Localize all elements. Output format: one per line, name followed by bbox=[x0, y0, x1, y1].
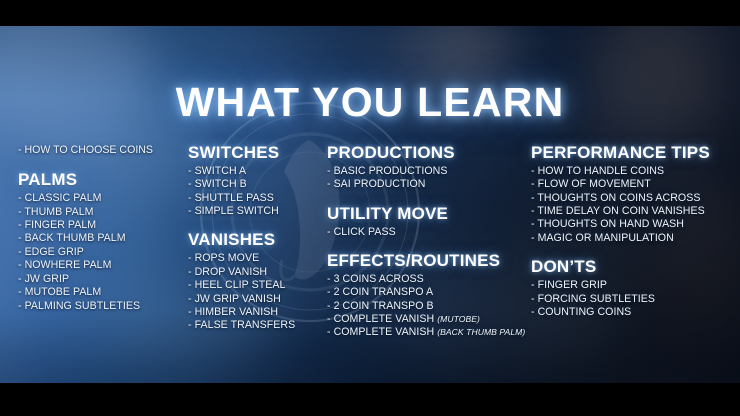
list-item: - COUNTING COINS bbox=[531, 306, 736, 319]
list-item-label: - NOWHERE PALM bbox=[18, 259, 112, 271]
list-item-label: - HIMBER VANISH bbox=[188, 306, 278, 318]
list-item: - COMPLETE VANISH (BACK THUMB PALM) bbox=[327, 326, 532, 339]
list-item: - THOUGHTS ON HAND WASH bbox=[531, 218, 736, 231]
learn-group: SWITCHES- SWITCH A- SWITCH B- SHUTTLE PA… bbox=[188, 144, 328, 218]
learn-column-4: PERFORMANCE TIPS- HOW TO HANDLE COINS- F… bbox=[531, 144, 736, 319]
learn-group: EFFECTS/ROUTINES- 3 COINS ACROSS- 2 COIN… bbox=[327, 252, 532, 340]
list-item: - 2 COIN TRANSPO B bbox=[327, 300, 532, 313]
list-item: - HOW TO CHOOSE COINS bbox=[18, 144, 186, 157]
list-item-label: - FORCING SUBTLETIES bbox=[531, 293, 655, 305]
list-item: - SHUTTLE PASS bbox=[188, 192, 328, 205]
page-title: WHAT YOU LEARN bbox=[0, 82, 740, 123]
group-heading: DON’TS bbox=[531, 258, 736, 276]
list-item-label: - THUMB PALM bbox=[18, 206, 94, 218]
list-item-label: - THOUGHTS ON COINS ACROSS bbox=[531, 192, 700, 204]
list-item-label: - FALSE TRANSFERS bbox=[188, 319, 295, 331]
list-item: - TIME DELAY ON COIN VANISHES bbox=[531, 205, 736, 218]
list-item: - FALSE TRANSFERS bbox=[188, 319, 328, 332]
list-item: - FINGER PALM bbox=[18, 219, 186, 232]
list-item: - BASIC PRODUCTIONS bbox=[327, 165, 532, 178]
list-item: - CLASSIC PALM bbox=[18, 192, 186, 205]
group-heading: PRODUCTIONS bbox=[327, 144, 532, 162]
video-frame: WHAT YOU LEARN - HOW TO CHOOSE COINSPALM… bbox=[0, 26, 740, 383]
learn-group: PRODUCTIONS- BASIC PRODUCTIONS- SAI PROD… bbox=[327, 144, 532, 192]
learn-group: UTILITY MOVE- CLICK PASS bbox=[327, 205, 532, 239]
list-item-label: - FLOW OF MOVEMENT bbox=[531, 178, 651, 190]
list-item-label: - COUNTING COINS bbox=[531, 306, 631, 318]
list-item-label: - SHUTTLE PASS bbox=[188, 192, 274, 204]
list-item: - FINGER GRIP bbox=[531, 279, 736, 292]
learn-group: PERFORMANCE TIPS- HOW TO HANDLE COINS- F… bbox=[531, 144, 736, 245]
group-heading: PALMS bbox=[18, 171, 186, 189]
list-item-label: - CLASSIC PALM bbox=[18, 192, 102, 204]
list-item: - COMPLETE VANISH (MUTOBE) bbox=[327, 313, 532, 326]
list-item-label: - 2 COIN TRANSPO B bbox=[327, 300, 434, 312]
list-item-note: (MUTOBE) bbox=[437, 314, 480, 324]
learn-group: DON’TS- FINGER GRIP- FORCING SUBTLETIES-… bbox=[531, 258, 736, 319]
slide-content: WHAT YOU LEARN - HOW TO CHOOSE COINSPALM… bbox=[0, 26, 740, 383]
list-item-label: - SAI PRODUCTION bbox=[327, 178, 426, 190]
group-heading: VANISHES bbox=[188, 231, 328, 249]
group-heading: UTILITY MOVE bbox=[327, 205, 532, 223]
list-item: - DROP VANISH bbox=[188, 266, 328, 279]
learn-column-3: PRODUCTIONS- BASIC PRODUCTIONS- SAI PROD… bbox=[327, 144, 532, 340]
learn-group: VANISHES- ROPS MOVE- DROP VANISH- HEEL C… bbox=[188, 231, 328, 332]
list-item-label: - DROP VANISH bbox=[188, 266, 267, 278]
list-item-label: - FINGER GRIP bbox=[531, 279, 607, 291]
list-item-label: - MAGIC OR MANIPULATION bbox=[531, 232, 674, 244]
list-item-label: - SWITCH A bbox=[188, 165, 246, 177]
list-item-label: - 3 COINS ACROSS bbox=[327, 273, 424, 285]
list-item-label: - FINGER PALM bbox=[18, 219, 96, 231]
list-item-label: - COMPLETE VANISH bbox=[327, 326, 437, 338]
list-item: - MUTOBE PALM bbox=[18, 286, 186, 299]
list-item: - FLOW OF MOVEMENT bbox=[531, 178, 736, 191]
list-item: - THOUGHTS ON COINS ACROSS bbox=[531, 192, 736, 205]
group-heading: SWITCHES bbox=[188, 144, 328, 162]
list-item-label: - HEEL CLIP STEAL bbox=[188, 279, 285, 291]
list-item-label: - JW GRIP VANISH bbox=[188, 293, 281, 305]
list-item: - JW GRIP VANISH bbox=[188, 293, 328, 306]
list-item-label: - 2 COIN TRANSPO A bbox=[327, 286, 433, 298]
list-item: - FORCING SUBTLETIES bbox=[531, 293, 736, 306]
group-heading: PERFORMANCE TIPS bbox=[531, 144, 736, 162]
list-item-label: - TIME DELAY ON COIN VANISHES bbox=[531, 205, 705, 217]
list-item: - CLICK PASS bbox=[327, 226, 532, 239]
list-item-label: - ROPS MOVE bbox=[188, 252, 259, 264]
list-item-label: - PALMING SUBTLETIES bbox=[18, 300, 140, 312]
list-item: - MAGIC OR MANIPULATION bbox=[531, 232, 736, 245]
list-item: - SIMPLE SWITCH bbox=[188, 205, 328, 218]
list-item-label: - COMPLETE VANISH bbox=[327, 313, 437, 325]
list-item: - JW GRIP bbox=[18, 273, 186, 286]
group-heading: EFFECTS/ROUTINES bbox=[327, 252, 532, 270]
list-item-label: - EDGE GRIP bbox=[18, 246, 84, 258]
list-item: - BACK THUMB PALM bbox=[18, 232, 186, 245]
list-item-label: - SWITCH B bbox=[188, 178, 247, 190]
list-item: - HIMBER VANISH bbox=[188, 306, 328, 319]
list-item-label: - BACK THUMB PALM bbox=[18, 232, 126, 244]
slide-stage: WHAT YOU LEARN - HOW TO CHOOSE COINSPALM… bbox=[0, 0, 740, 416]
list-item-label: - HOW TO HANDLE COINS bbox=[531, 165, 664, 177]
list-item-label: - CLICK PASS bbox=[327, 226, 396, 238]
list-item-label: - MUTOBE PALM bbox=[18, 286, 101, 298]
list-item-label: - BASIC PRODUCTIONS bbox=[327, 165, 447, 177]
letterbox-top bbox=[0, 0, 740, 26]
list-item-label: - SIMPLE SWITCH bbox=[188, 205, 279, 217]
list-item: - HEEL CLIP STEAL bbox=[188, 279, 328, 292]
letterbox-bottom bbox=[0, 383, 740, 416]
list-item: - EDGE GRIP bbox=[18, 246, 186, 259]
list-item: - 3 COINS ACROSS bbox=[327, 273, 532, 286]
list-item: - SWITCH A bbox=[188, 165, 328, 178]
list-item-note: (BACK THUMB PALM) bbox=[437, 327, 525, 337]
list-item: - SWITCH B bbox=[188, 178, 328, 191]
list-item: - SAI PRODUCTION bbox=[327, 178, 532, 191]
learn-column-2: SWITCHES- SWITCH A- SWITCH B- SHUTTLE PA… bbox=[188, 144, 328, 333]
list-item: - 2 COIN TRANSPO A bbox=[327, 286, 532, 299]
list-item: - THUMB PALM bbox=[18, 206, 186, 219]
list-item: - ROPS MOVE bbox=[188, 252, 328, 265]
list-item-label: - JW GRIP bbox=[18, 273, 69, 285]
learn-group: PALMS- CLASSIC PALM- THUMB PALM- FINGER … bbox=[18, 171, 186, 313]
list-item: - PALMING SUBTLETIES bbox=[18, 300, 186, 313]
list-item-label: - THOUGHTS ON HAND WASH bbox=[531, 218, 684, 230]
list-item: - NOWHERE PALM bbox=[18, 259, 186, 272]
learn-column-1: - HOW TO CHOOSE COINSPALMS- CLASSIC PALM… bbox=[18, 144, 186, 313]
list-item: - HOW TO HANDLE COINS bbox=[531, 165, 736, 178]
